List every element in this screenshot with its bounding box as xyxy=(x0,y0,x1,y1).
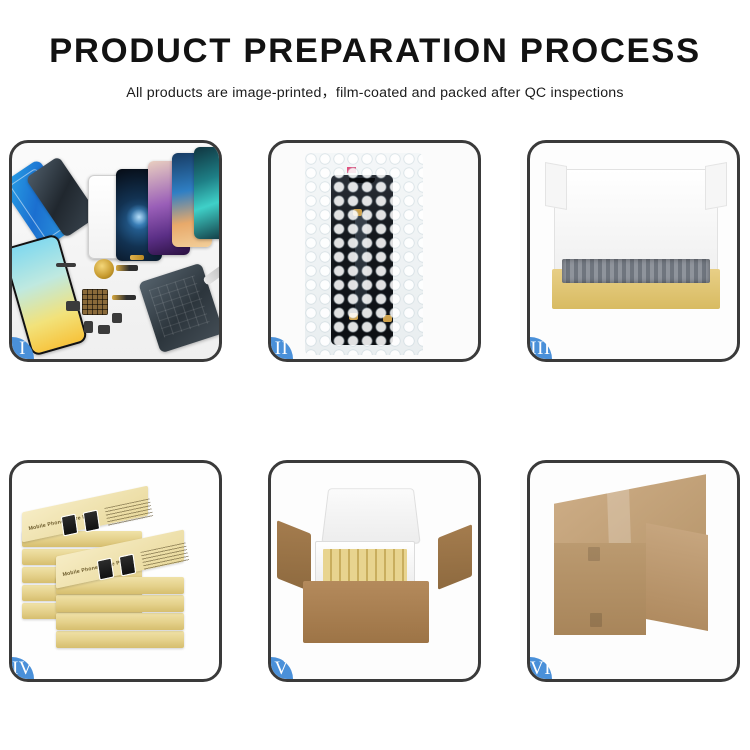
carton-tab-icon xyxy=(590,613,602,627)
carton-flap-right-icon xyxy=(438,524,472,590)
spare-part-icon xyxy=(56,263,76,267)
gold-contact-icon xyxy=(130,255,144,260)
process-step-panel-6[interactable]: VI xyxy=(527,460,740,682)
retail-box-icon xyxy=(56,595,184,612)
flex-cable-icon xyxy=(116,265,138,271)
step-1-illustration xyxy=(12,143,219,359)
retail-box-icon xyxy=(56,631,184,648)
box-artwork-screen-icon xyxy=(61,514,78,537)
step-4-illustration: Mobile Phone Spare Parts Mobile Phone Sp… xyxy=(12,463,219,679)
bubble-texture-icon xyxy=(305,153,423,355)
step-6-illustration xyxy=(530,463,737,679)
shipping-carton-icon xyxy=(303,581,429,643)
phone-screen-teal-icon xyxy=(194,147,222,239)
step-5-illustration xyxy=(271,463,478,679)
step-badge-3: III xyxy=(527,337,552,362)
page-title: PRODUCT PREPARATION PROCESS xyxy=(0,34,750,70)
flex-cable-icon xyxy=(112,295,136,300)
white-box-lid-icon xyxy=(554,169,718,273)
carton-side-icon xyxy=(646,523,708,631)
retail-box-icon xyxy=(56,613,184,630)
packed-retail-boxes-icon xyxy=(323,549,407,583)
retail-box-stack-icon: Mobile Phone Spare Parts Mobile Phone Sp… xyxy=(22,485,217,665)
page-header: PRODUCT PREPARATION PROCESS All products… xyxy=(0,0,750,102)
chip-array-icon xyxy=(82,289,108,315)
spare-part-icon xyxy=(98,325,110,334)
kraft-box-tray-icon xyxy=(552,269,720,309)
bubble-bag-icon xyxy=(305,153,423,355)
step-badge-4: IV xyxy=(9,657,34,682)
spare-part-icon xyxy=(66,301,80,311)
carton-tab-icon xyxy=(588,547,600,561)
process-step-panel-2[interactable]: II xyxy=(268,140,481,362)
page-subtitle: All products are image-printed，film-coat… xyxy=(0,82,750,102)
foam-lid-icon xyxy=(321,488,420,543)
process-step-panel-1[interactable]: I xyxy=(9,140,222,362)
box-artwork-screen-icon xyxy=(83,510,100,533)
spare-part-icon xyxy=(112,313,122,323)
step-badge-6: VI xyxy=(527,657,552,682)
process-step-panel-4[interactable]: Mobile Phone Spare Parts Mobile Phone Sp… xyxy=(9,460,222,682)
step-2-illustration xyxy=(271,143,478,359)
copper-coil-icon xyxy=(94,259,114,279)
process-steps-grid: I II III xyxy=(9,140,741,682)
process-step-panel-5[interactable]: V xyxy=(268,460,481,682)
step-3-illustration xyxy=(530,143,737,359)
box-artwork-screen-icon xyxy=(97,558,114,581)
box-artwork-screen-icon xyxy=(119,554,136,577)
repair-tool-icon xyxy=(202,261,222,286)
process-step-panel-3[interactable]: III xyxy=(527,140,740,362)
spare-part-icon xyxy=(84,321,93,333)
